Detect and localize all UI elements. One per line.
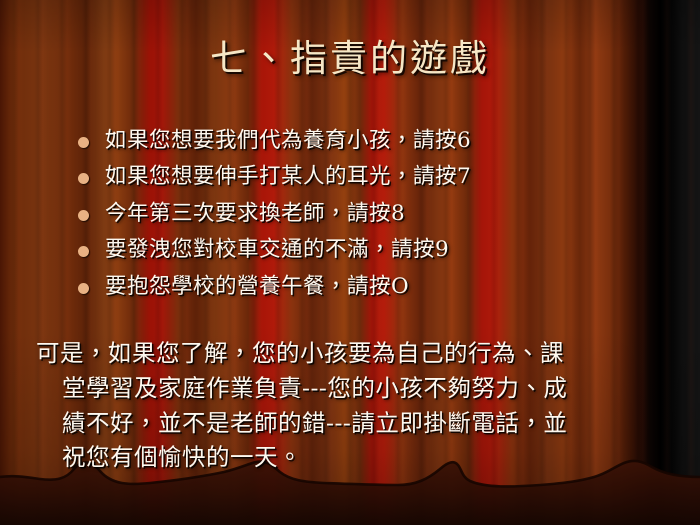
bullet-dot-icon (78, 246, 89, 257)
list-item: 要發洩您對校車交通的不滿，請按9 (78, 235, 638, 264)
paragraph-line: 祝您有個愉快的一天。 (36, 440, 661, 475)
bullet-dot-icon (78, 283, 89, 294)
paragraph-line: 堂學習及家庭作業負責---您的小孩不夠努力、成 (36, 371, 661, 406)
list-item: 如果您想要伸手打某人的耳光，請按7 (78, 162, 638, 191)
bullet-dot-icon (78, 137, 89, 148)
list-item-text: 如果您想要伸手打某人的耳光，請按7 (105, 164, 471, 189)
list-item-text: 要抱怨學校的營養午餐，請按O (105, 274, 409, 299)
paragraph-line: 可是，如果您了解，您的小孩要為自己的行為、課 (36, 336, 661, 371)
bullet-list: 如果您想要我們代為養育小孩，請按6 如果您想要伸手打某人的耳光，請按7 今年第三… (78, 126, 638, 308)
paragraph-line: 績不好，並不是老師的錯---請立即掛斷電話，並 (36, 406, 661, 441)
list-item: 要抱怨學校的營養午餐，請按O (78, 272, 638, 301)
slide-title: 七、指責的遊戲 (0, 38, 700, 81)
closing-paragraph: 可是，如果您了解，您的小孩要為自己的行為、課 堂學習及家庭作業負責---您的小孩… (36, 336, 661, 475)
presentation-slide: 七、指責的遊戲 如果您想要我們代為養育小孩，請按6 如果您想要伸手打某人的耳光，… (0, 0, 700, 525)
list-item: 如果您想要我們代為養育小孩，請按6 (78, 126, 638, 155)
bullet-dot-icon (78, 173, 89, 184)
list-item-text: 如果您想要我們代為養育小孩，請按6 (105, 128, 471, 153)
list-item-text: 要發洩您對校車交通的不滿，請按9 (105, 237, 449, 262)
bullet-dot-icon (78, 210, 89, 221)
list-item-text: 今年第三次要求換老師，請按8 (105, 201, 405, 226)
list-item: 今年第三次要求換老師，請按8 (78, 199, 638, 228)
